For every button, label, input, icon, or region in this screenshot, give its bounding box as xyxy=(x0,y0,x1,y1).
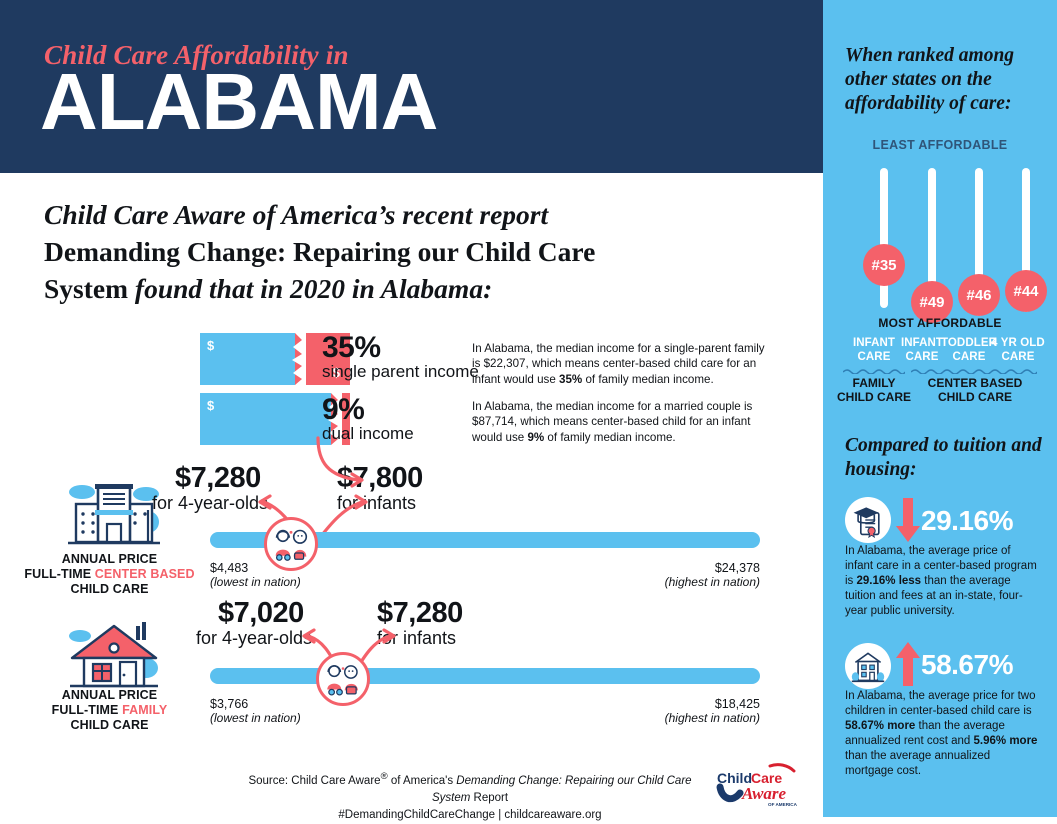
arrow-up-icon xyxy=(895,640,921,688)
tuition-percent: 29.16% xyxy=(921,505,1013,537)
source-part-b: of America's xyxy=(388,775,457,787)
source-hashtag-url[interactable]: #DemandingChildCareChange | childcareawa… xyxy=(338,809,601,821)
parent-and-child-icon xyxy=(271,526,311,562)
family-group-icon xyxy=(322,661,364,697)
single-note-part-c: of family median income. xyxy=(582,373,713,386)
center-price-four-year: $7,280 xyxy=(175,462,261,495)
arrow-down-icon xyxy=(895,496,921,544)
center-range-high: $24,378 (highest in nation) xyxy=(600,561,760,589)
center-based-care-label: ANNUAL PRICE FULL-TIME CENTER BASED CHIL… xyxy=(22,552,197,597)
family-price-four-year: $7,020 xyxy=(218,597,304,630)
single-parent-note: In Alabama, the median income for a sing… xyxy=(472,341,772,387)
dual-note-highlight: 9% xyxy=(527,431,544,444)
squiggle-divider-center-icon xyxy=(911,368,1037,374)
family-label-line2b: FAMILY xyxy=(122,703,167,717)
money-blue-portion xyxy=(200,333,295,385)
family-range-low-value: $3,766 xyxy=(210,697,248,711)
source-attribution: Source: Child Care Aware® of America's D… xyxy=(240,768,700,824)
tuition-note-highlight: 29.16% less xyxy=(857,575,922,587)
source-part-a: Source: Child Care Aware xyxy=(248,775,380,787)
sidebar-panel: When ranked among other states on the af… xyxy=(823,0,1057,817)
dual-income-percent: 9% xyxy=(322,393,364,427)
torn-edge-icon xyxy=(288,333,306,385)
family-range-high-value: $18,425 xyxy=(715,697,760,711)
tuition-note: In Alabama, the average price of infant … xyxy=(845,544,1041,619)
housing-note-highlight-1: 58.67% more xyxy=(845,720,915,732)
logo-subtitle: OF AMERICA xyxy=(768,802,798,807)
dollar-sign-left: $ xyxy=(207,338,214,353)
single-parent-percent: 35% xyxy=(322,331,381,365)
childcare-aware-logo: Child Care Aware OF AMERICA xyxy=(712,763,800,809)
rank-group-family: FAMILY CHILD CARE xyxy=(837,376,911,404)
compare-title: Compared to tuition and housing: xyxy=(845,434,1045,482)
rank-badge-center-4yr: #44 xyxy=(1005,270,1047,312)
center-range-high-value: $24,378 xyxy=(715,561,760,575)
housing-note-a: In Alabama, the average price for two ch… xyxy=(845,690,1036,717)
rank-badge-family-infant: #35 xyxy=(863,244,905,286)
squiggle-divider-family-icon xyxy=(843,368,905,374)
intro-paragraph: Child Care Aware of America’s recent rep… xyxy=(44,196,684,307)
header-banner: Child Care Affordability in ALABAMA xyxy=(0,0,823,173)
housing-note-e: than the average annualized mortgage cos… xyxy=(845,750,990,777)
intro-line-2: Demanding Change: Repairing our Child Ca… xyxy=(44,236,595,267)
rank-badge-center-toddler: #46 xyxy=(958,274,1000,316)
intro-line-3-report: System xyxy=(44,273,128,304)
family-label-line1: ANNUAL PRICE xyxy=(62,688,157,702)
dual-note-part-c: of family median income. xyxy=(544,431,675,444)
center-range-low: $4,483 (lowest in nation) xyxy=(210,561,301,589)
dual-income-note: In Alabama, the median income for a marr… xyxy=(472,399,772,445)
family-range-high-note: (highest in nation) xyxy=(600,711,760,725)
housing-note: In Alabama, the average price for two ch… xyxy=(845,689,1041,779)
most-affordable-label: MOST AFFORDABLE xyxy=(823,316,1057,330)
rank-category-center-4yr: 4 YR OLD CARE xyxy=(987,336,1049,364)
svg-text:Aware: Aware xyxy=(741,784,787,803)
dollar-sign-left: $ xyxy=(207,398,214,413)
center-range-low-note: (lowest in nation) xyxy=(210,575,301,589)
apartment-building-icon xyxy=(845,643,891,689)
housing-percent: 58.67% xyxy=(921,649,1013,681)
family-label-line3: CHILD CARE xyxy=(70,718,148,732)
single-note-highlight: 35% xyxy=(559,373,582,386)
family-range-low: $3,766 (lowest in nation) xyxy=(210,697,301,725)
rank-group-center: CENTER BASED CHILD CARE xyxy=(915,376,1035,404)
family-range-low-note: (lowest in nation) xyxy=(210,711,301,725)
house-icon xyxy=(64,612,164,694)
family-label-line2a: FULL-TIME xyxy=(52,703,122,717)
center-label-line1: ANNUAL PRICE xyxy=(62,552,157,566)
office-building-icon xyxy=(62,470,166,556)
family-range-high: $18,425 (highest in nation) xyxy=(600,697,760,725)
source-part-d: Report xyxy=(470,792,508,804)
graduation-diploma-icon xyxy=(845,497,891,543)
family-medallion xyxy=(316,652,370,706)
least-affordable-label: LEAST AFFORDABLE xyxy=(823,138,1057,152)
center-label-line2b: CENTER BASED xyxy=(95,567,195,581)
ranking-title: When ranked among other states on the af… xyxy=(845,44,1045,116)
housing-note-highlight-2: 5.96% more xyxy=(974,735,1038,747)
intro-line-3-rest: found that in 2020 in Alabama: xyxy=(135,273,492,304)
page-title: ALABAMA xyxy=(40,62,437,142)
intro-line-1: Child Care Aware of America’s recent rep… xyxy=(44,199,548,230)
family-price-range-bar xyxy=(210,668,760,684)
center-range-high-note: (highest in nation) xyxy=(600,575,760,589)
single-parent-percent-label: single parent income xyxy=(322,362,479,382)
center-label-line2a: FULL-TIME xyxy=(24,567,94,581)
center-label-line3: CHILD CARE xyxy=(70,582,148,596)
rank-stem-family-infant xyxy=(880,168,888,308)
family-care-label: ANNUAL PRICE FULL-TIME FAMILY CHILD CARE xyxy=(22,688,197,733)
infographic-page: Child Care Affordability in ALABAMA Chil… xyxy=(0,0,1057,817)
center-range-low-value: $4,483 xyxy=(210,561,248,575)
